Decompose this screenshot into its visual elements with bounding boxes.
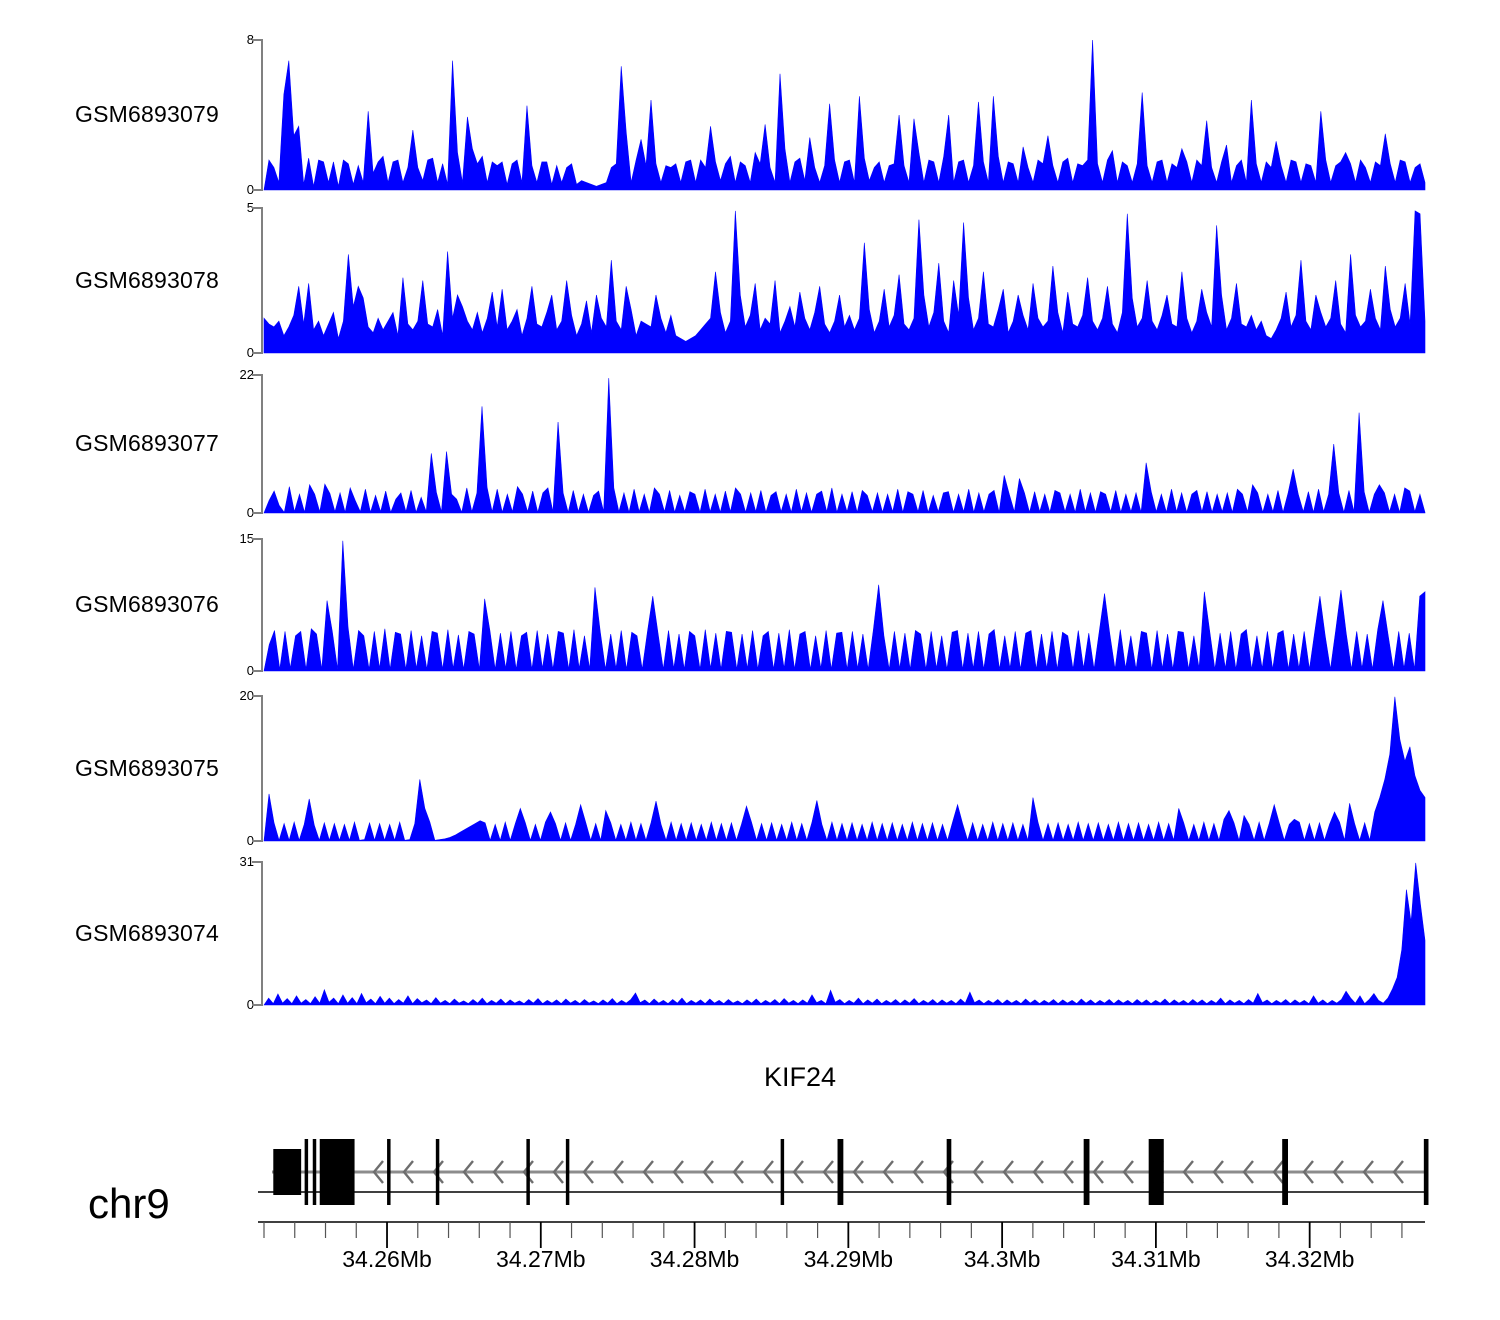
y-axis-bracket <box>252 696 262 841</box>
y-axis-bracket <box>252 375 262 513</box>
coverage-area-path <box>264 211 1425 353</box>
coverage-area-path <box>264 40 1425 190</box>
coverage-area-path <box>264 697 1425 841</box>
y-axis-bracket <box>252 862 262 1005</box>
axis-tick-label: 34.27Mb <box>496 1248 586 1271</box>
coverage-area-path <box>264 863 1425 1005</box>
axis-ruler-svg <box>0 1190 1500 1250</box>
gene-annotation-track: KIF24 <box>0 1050 1500 1200</box>
axis-tick-label: 34.31Mb <box>1111 1248 1201 1271</box>
coverage-area-svg <box>0 690 1500 849</box>
axis-tick-label: 34.28Mb <box>650 1248 740 1271</box>
gene-exon-box <box>273 1149 301 1195</box>
coverage-area-svg <box>0 34 1500 198</box>
coverage-area-path <box>264 541 1425 671</box>
coverage-area-path <box>264 378 1425 513</box>
axis-tick-label: 34.29Mb <box>804 1248 894 1271</box>
coverage-area-svg <box>0 533 1500 679</box>
axis-tick-label: 34.26Mb <box>342 1248 432 1271</box>
y-axis-bracket <box>252 40 262 190</box>
axis-tick-label: 34.3Mb <box>964 1248 1041 1271</box>
genome-coordinate-axis: 34.26Mb34.27Mb34.28Mb34.29Mb34.3Mb34.31M… <box>0 1190 1500 1300</box>
y-axis-bracket <box>252 208 262 353</box>
coverage-area-svg <box>0 369 1500 521</box>
gene-name-label: KIF24 <box>764 1064 836 1091</box>
genome-browser-figure: GSM689307980GSM689307850GSM6893077220GSM… <box>0 0 1500 1320</box>
axis-tick-label: 34.32Mb <box>1265 1248 1355 1271</box>
coverage-track: GSM6893074310 <box>0 0 1500 1</box>
y-axis-bracket <box>252 539 262 671</box>
coverage-area-svg <box>0 202 1500 361</box>
coverage-area-svg <box>0 856 1500 1013</box>
